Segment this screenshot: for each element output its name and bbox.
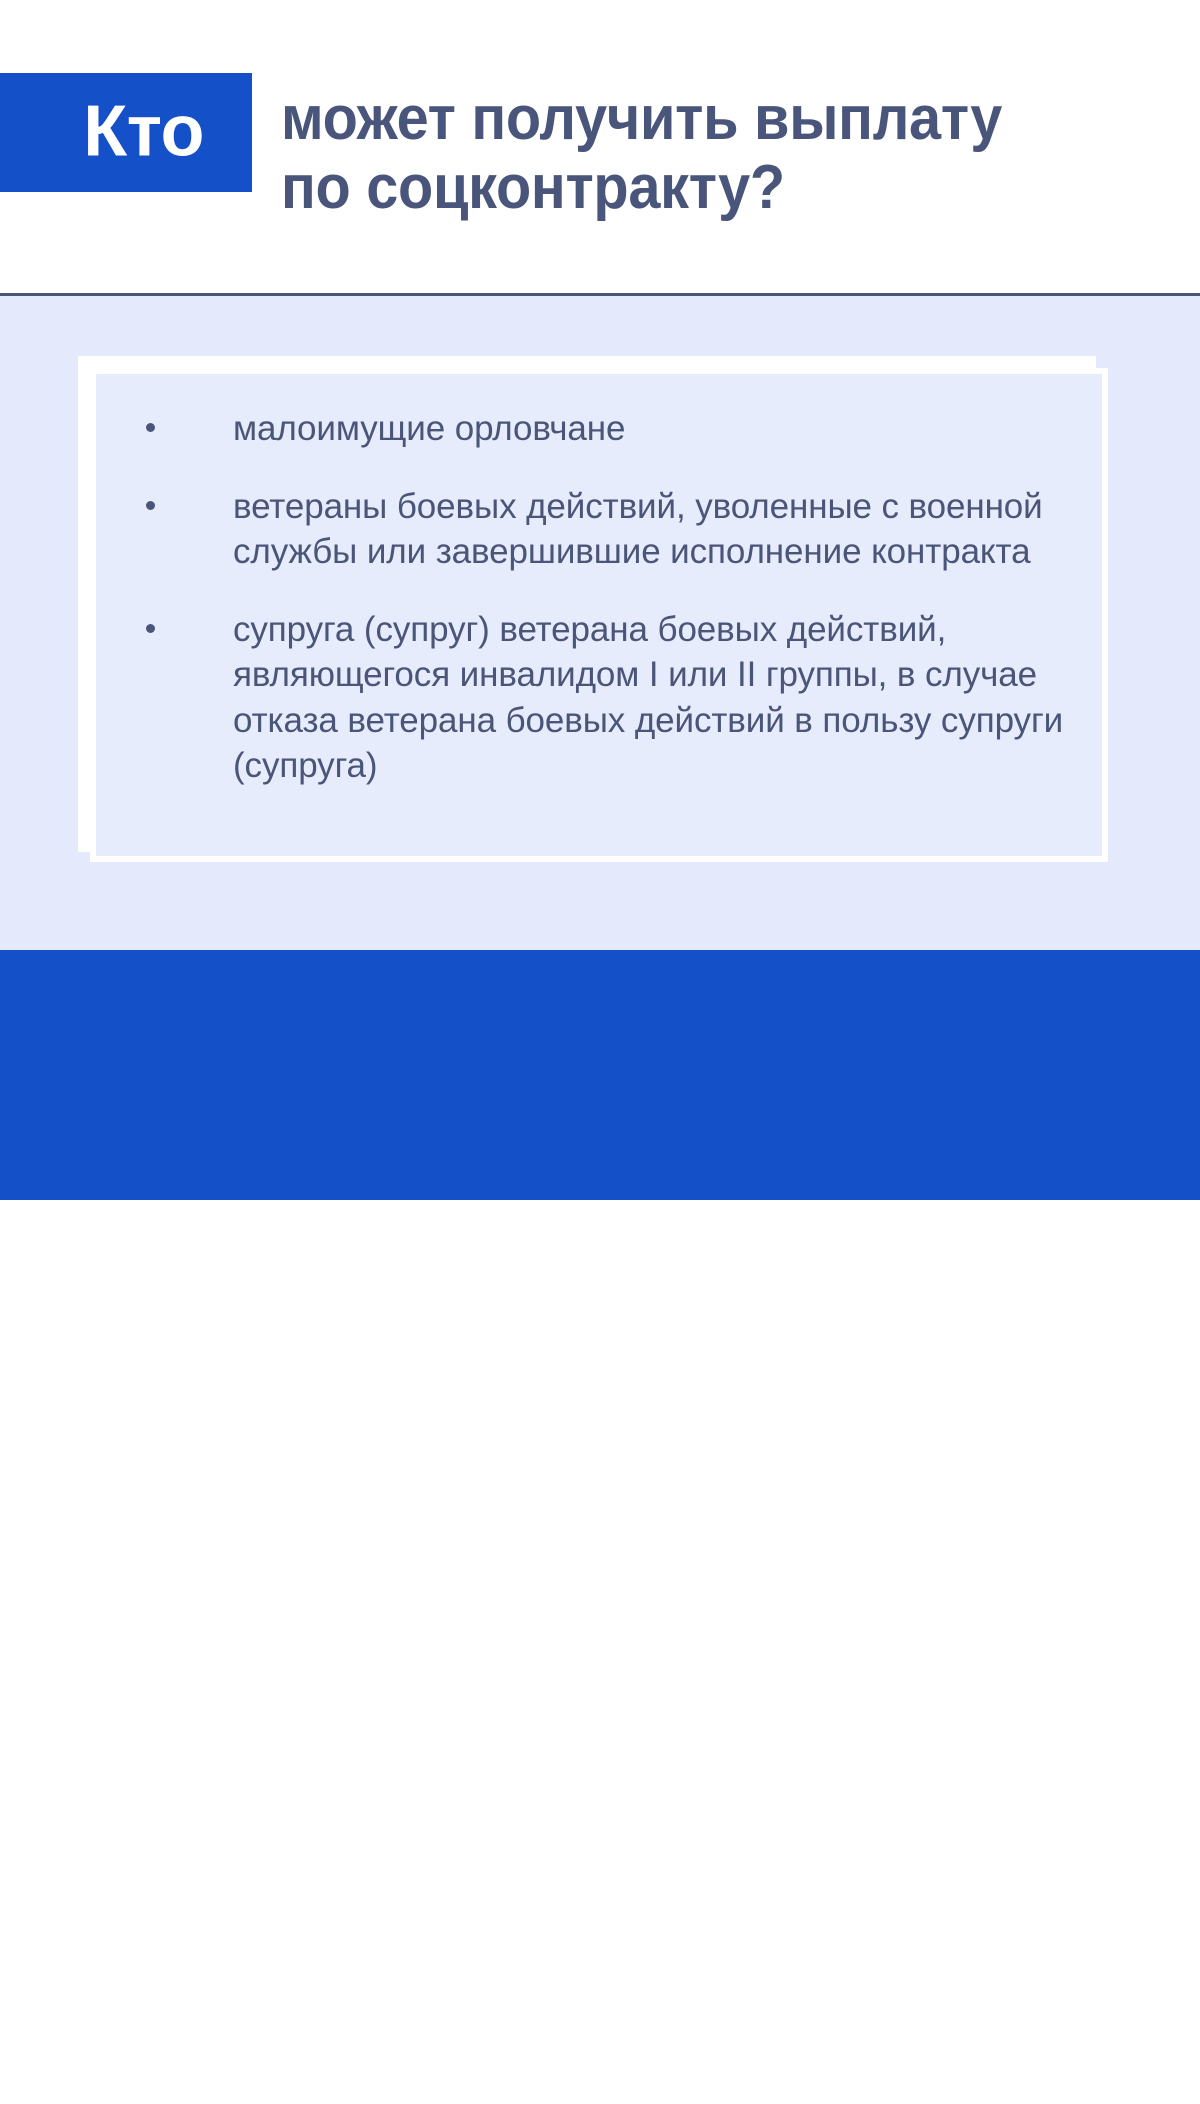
header-section: Кто может получить выплату по соцконтрак… (0, 0, 1200, 296)
list-item-label: малоимущие орловчане (233, 409, 625, 448)
bullet-icon (146, 501, 155, 510)
list-item: малоимущие орловчане (146, 406, 1066, 452)
eligibility-list: малоимущие орловчане ветераны боевых дей… (146, 406, 1066, 789)
kto-badge: Кто (0, 73, 252, 192)
priority-list: многодетные семьи участники СВО и их сем… (117, 1987, 1017, 2104)
list-item: ветераны боевых действий, уволенные с во… (146, 484, 1066, 575)
eligibility-card: малоимущие орловчане ветераны боевых дей… (90, 368, 1108, 862)
bullet-icon (146, 624, 155, 633)
page-title: может получить выплату по соцконтракту? (281, 84, 1099, 223)
list-item-label: участники СВО и их семьи (169, 2047, 598, 2086)
bullet-icon (146, 423, 155, 432)
list-item: многодетные семьи (117, 1987, 1017, 2030)
list-item: участники СВО и их семьи (117, 2046, 1017, 2089)
bullet-icon (122, 2064, 130, 2072)
list-item-label: ветераны боевых действий, уволенные с во… (233, 487, 1043, 572)
priority-heading: Приоритетные категории: (117, 1932, 576, 1972)
bullet-icon (122, 2005, 130, 2013)
list-item-label: супруга (супруг) ветерана боевых действи… (233, 610, 1063, 786)
kto-badge-label: Кто (83, 95, 204, 167)
priority-section: Приоритетные категории: многодетные семь… (0, 950, 1200, 1200)
list-item: супруга (супруг) ветерана боевых действи… (146, 607, 1066, 789)
list-item-label: многодетные семьи (169, 1988, 488, 2027)
